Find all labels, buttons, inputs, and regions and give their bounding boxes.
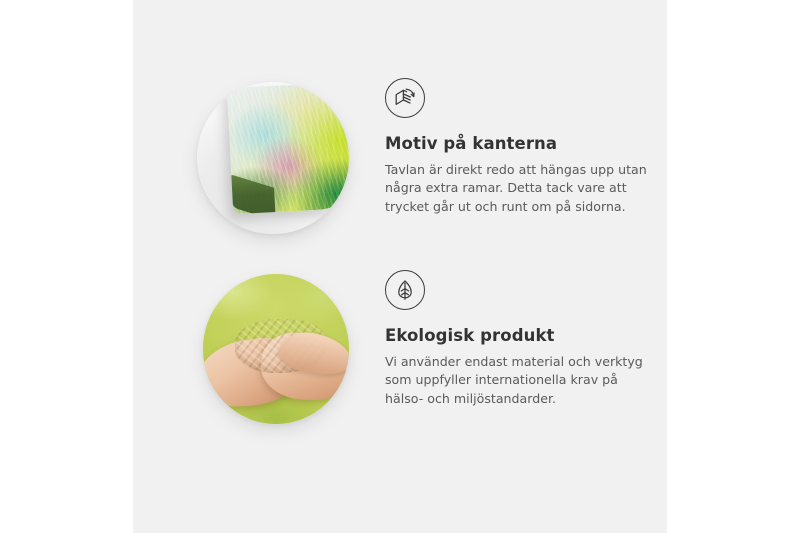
leaf-icon [385,270,425,310]
canvas-print-photo [197,82,349,234]
feature-title: Motiv på kanterna [385,134,667,154]
feature-image-wood-chips [203,274,349,424]
feature-image-canvas-print [197,82,349,234]
feature-text-eco: Ekologisk produkt Vi använder endast mat… [385,270,667,409]
wood-chips-photo [203,274,349,424]
promo-banner: Motiv på kanterna Tavlan är direkt redo … [0,0,800,533]
feature-description: Tavlan är direkt redo att hängas upp uta… [385,161,657,217]
canvas-wrapped-edges-icon [385,78,425,118]
feature-title: Ekologisk produkt [385,326,667,346]
feature-text-edges: Motiv på kanterna Tavlan är direkt redo … [385,78,667,217]
canvas-object [227,82,349,214]
feature-description: Vi använder endast material och verktyg … [385,353,657,409]
